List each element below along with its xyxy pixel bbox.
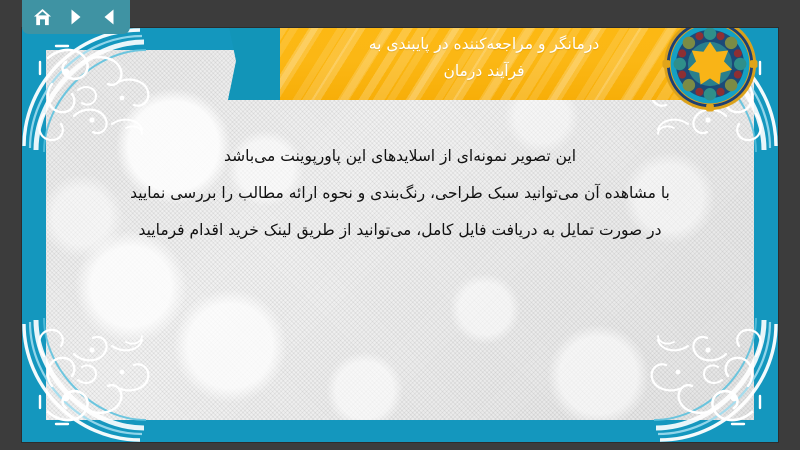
home-button[interactable] [29,4,57,30]
chevron-right-icon [68,8,84,26]
body-line-3: در صورت تمایل به دریافت فایل کامل، می‌تو… [62,212,738,249]
slide-viewer: کامل ارزیابی نقش الگوی ارتباطی درمانگر و… [0,0,800,450]
navigation-bar [22,0,130,34]
slide-frame: کامل ارزیابی نقش الگوی ارتباطی درمانگر و… [22,28,778,442]
chevron-left-icon [101,8,117,26]
body-line-2: با مشاهده آن می‌توانید سبک طراحی، رنگ‌بن… [62,175,738,212]
title-ribbon: کامل ارزیابی نقش الگوی ارتباطی درمانگر و… [228,28,698,100]
forward-button[interactable] [62,4,90,30]
body-line-1: این تصویر نمونه‌ای از اسلایدهای این پاور… [62,138,738,175]
medallion-icon [662,28,758,112]
slide-body-text: این تصویر نمونه‌ای از اسلایدهای این پاور… [62,138,738,249]
slide-title: کامل ارزیابی نقش الگوی ارتباطی درمانگر و… [228,28,698,85]
back-button[interactable] [95,4,123,30]
home-icon [33,8,52,27]
